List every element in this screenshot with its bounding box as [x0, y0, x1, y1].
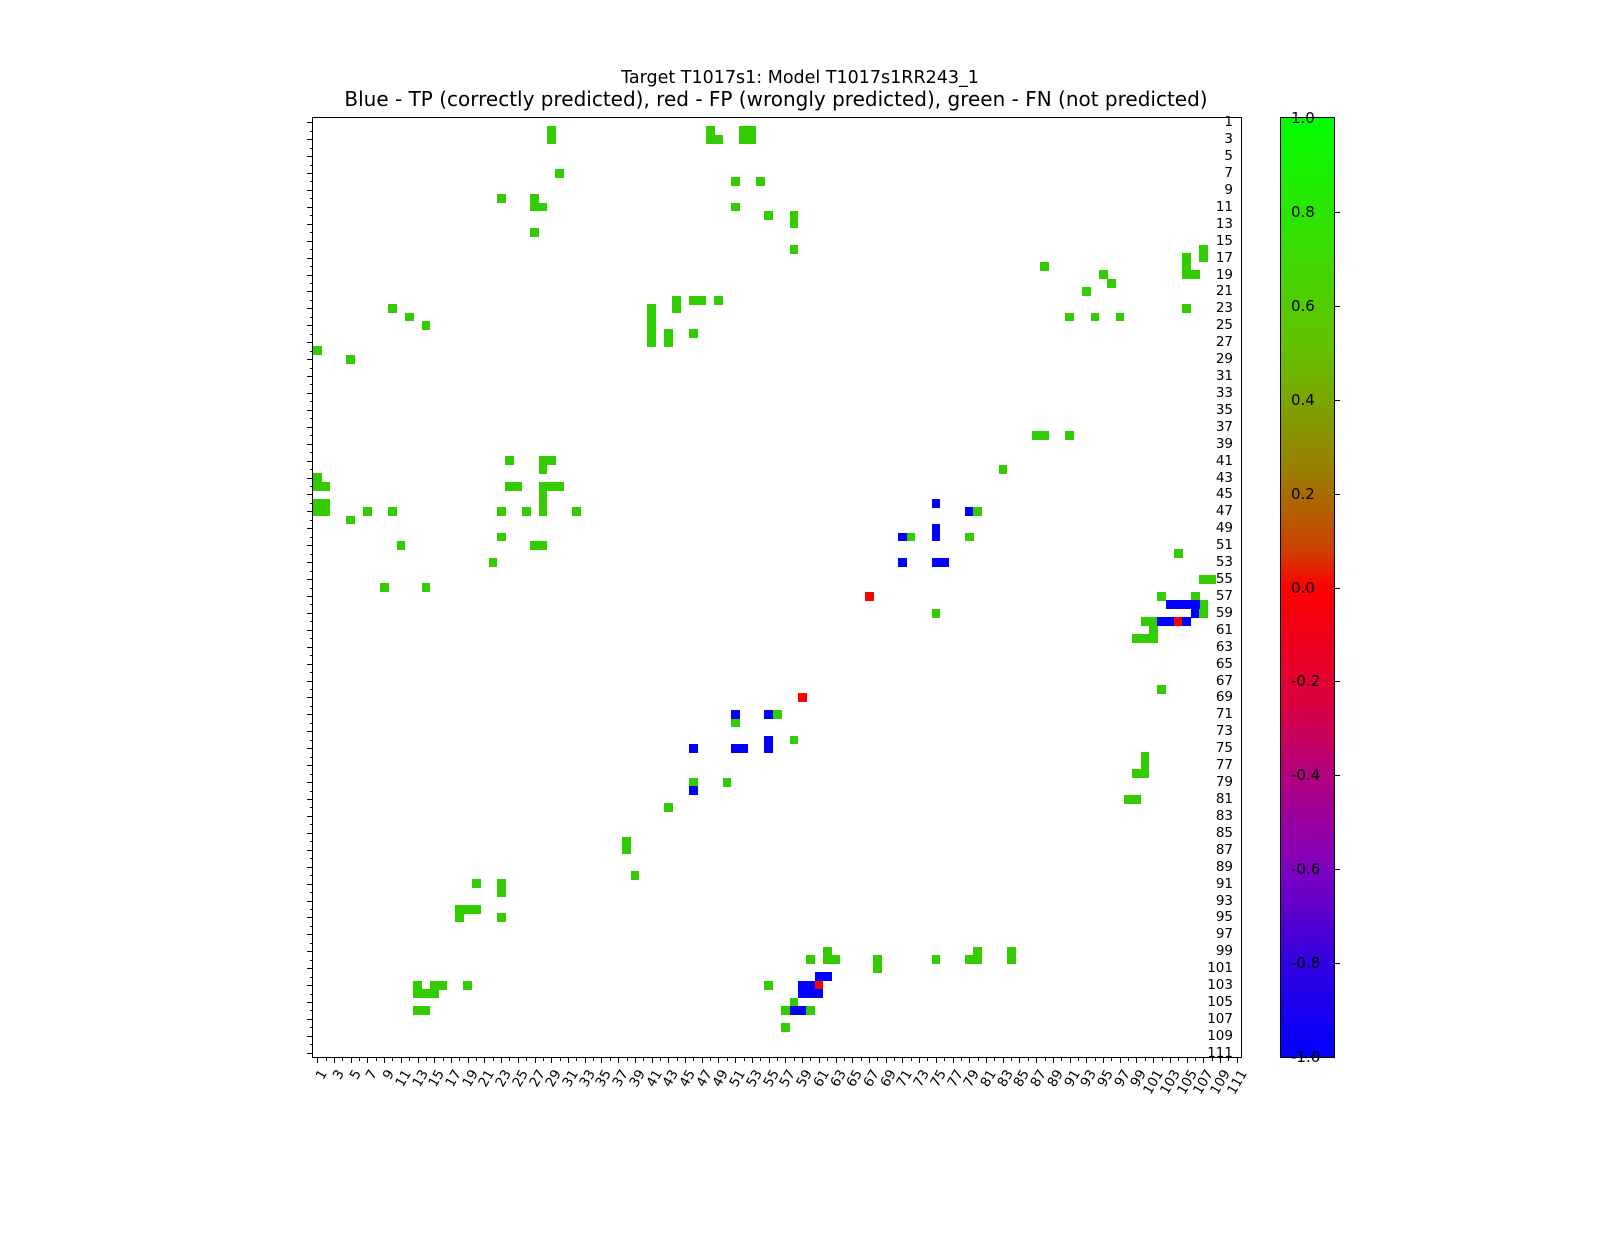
x-tick — [718, 1057, 719, 1063]
x-tick — [601, 1057, 602, 1063]
x-tick — [978, 1057, 979, 1061]
x-tick — [802, 1057, 803, 1063]
colorbar[interactable]: 1.00.80.60.40.20.0-0.2-0.4-0.6-0.8-1.0 — [1280, 117, 1335, 1058]
x-tick — [877, 1057, 878, 1061]
x-tick — [376, 1057, 377, 1061]
x-tick — [1162, 1057, 1163, 1061]
x-tick — [961, 1057, 962, 1061]
colorbar-tick-label: -0.8 — [1291, 954, 1320, 972]
x-tick — [526, 1057, 527, 1061]
x-tick — [1045, 1057, 1046, 1061]
x-tick — [1120, 1057, 1121, 1063]
x-tick — [810, 1057, 811, 1061]
x-tick — [969, 1057, 970, 1063]
x-tick — [994, 1057, 995, 1061]
contact-map-figure: Target T1017s1: Model T1017s1RR243_1 Cor… — [0, 0, 1600, 1200]
x-tick — [451, 1057, 452, 1063]
x-tick — [1111, 1057, 1112, 1061]
x-tick — [326, 1057, 327, 1061]
x-tick — [1036, 1057, 1037, 1063]
colorbar-tick-label: -0.2 — [1291, 672, 1320, 690]
x-tick — [685, 1057, 686, 1063]
x-tick — [1061, 1057, 1062, 1061]
colorbar-tick-label: -0.4 — [1291, 766, 1320, 784]
x-tick — [652, 1057, 653, 1063]
colorbar-tick — [1334, 681, 1340, 682]
axes-title-legend: Blue - TP (correctly predicted), red - F… — [312, 87, 1240, 111]
x-tick — [627, 1057, 628, 1061]
x-tick — [1003, 1057, 1004, 1063]
x-tick — [367, 1057, 368, 1063]
colorbar-tick — [1334, 494, 1340, 495]
x-tick — [852, 1057, 853, 1063]
x-tick — [1070, 1057, 1071, 1063]
colorbar-tick-label: -1.0 — [1291, 1048, 1320, 1066]
x-tick — [426, 1057, 427, 1061]
x-tick — [919, 1057, 920, 1063]
x-tick — [911, 1057, 912, 1061]
x-tick — [1178, 1057, 1179, 1061]
x-tick — [1203, 1057, 1204, 1063]
x-tick — [359, 1057, 360, 1061]
x-tick — [986, 1057, 987, 1063]
colorbar-tick — [1334, 775, 1340, 776]
x-tick — [819, 1057, 820, 1063]
colorbar-tick-label: -0.6 — [1291, 860, 1320, 878]
x-tick — [493, 1057, 494, 1061]
x-tick — [1011, 1057, 1012, 1061]
x-tick — [643, 1057, 644, 1061]
x-tick — [551, 1057, 552, 1063]
x-tick — [668, 1057, 669, 1063]
x-tick — [468, 1057, 469, 1063]
x-tick — [1053, 1057, 1054, 1063]
x-tick — [886, 1057, 887, 1063]
x-tick — [334, 1057, 335, 1063]
x-tick — [936, 1057, 937, 1063]
x-tick — [944, 1057, 945, 1061]
x-tick — [1212, 1057, 1213, 1061]
colorbar-tick — [1334, 963, 1340, 964]
x-tick — [660, 1057, 661, 1061]
x-tick — [401, 1057, 402, 1063]
x-tick — [568, 1057, 569, 1063]
x-tick — [1136, 1057, 1137, 1063]
x-tick — [1128, 1057, 1129, 1061]
x-tick — [418, 1057, 419, 1063]
x-tick — [585, 1057, 586, 1063]
x-tick — [1086, 1057, 1087, 1063]
colorbar-tick-label: 0.8 — [1291, 203, 1315, 221]
x-tick — [543, 1057, 544, 1061]
colorbar-tick-label: 0.0 — [1291, 579, 1315, 597]
x-tick — [777, 1057, 778, 1061]
x-tick — [760, 1057, 761, 1061]
x-tick — [434, 1057, 435, 1063]
colorbar-tick-label: 0.4 — [1291, 391, 1315, 409]
x-tick — [827, 1057, 828, 1061]
x-tick — [409, 1057, 410, 1061]
x-tick — [1103, 1057, 1104, 1063]
x-tick — [902, 1057, 903, 1063]
x-tick — [618, 1057, 619, 1063]
x-tick — [610, 1057, 611, 1061]
x-tick — [535, 1057, 536, 1063]
x-tick — [744, 1057, 745, 1061]
x-tick — [518, 1057, 519, 1063]
x-tick — [1170, 1057, 1171, 1063]
x-tick — [459, 1057, 460, 1061]
x-tick — [576, 1057, 577, 1061]
x-tick — [1195, 1057, 1196, 1061]
x-tick — [702, 1057, 703, 1063]
x-tick — [752, 1057, 753, 1063]
x-tick — [769, 1057, 770, 1063]
x-tick — [953, 1057, 954, 1063]
x-tick — [560, 1057, 561, 1061]
x-tick — [1153, 1057, 1154, 1063]
x-tick — [476, 1057, 477, 1061]
contact-map-plot[interactable]: 1357911131517192123252729313335373941434… — [312, 117, 1242, 1058]
x-tick — [635, 1057, 636, 1063]
x-tick — [342, 1057, 343, 1061]
x-tick — [1220, 1057, 1221, 1063]
x-tick — [484, 1057, 485, 1063]
x-tick — [869, 1057, 870, 1063]
x-tick — [1228, 1057, 1229, 1061]
x-tick — [844, 1057, 845, 1061]
colorbar-tick-label: 0.2 — [1291, 485, 1315, 503]
colorbar-tick — [1334, 869, 1340, 870]
x-tick — [317, 1057, 318, 1063]
x-tick — [593, 1057, 594, 1061]
x-tick — [677, 1057, 678, 1061]
x-tick — [443, 1057, 444, 1061]
x-tick — [392, 1057, 393, 1061]
colorbar-tick — [1334, 400, 1340, 401]
x-tick — [1237, 1057, 1238, 1063]
x-tick — [1028, 1057, 1029, 1061]
x-tick — [727, 1057, 728, 1061]
x-tick — [836, 1057, 837, 1063]
colorbar-tick-label: 0.6 — [1291, 297, 1315, 315]
x-tick — [1078, 1057, 1079, 1061]
x-tick — [384, 1057, 385, 1063]
x-tick — [1145, 1057, 1146, 1061]
x-tick — [351, 1057, 352, 1063]
x-tick — [501, 1057, 502, 1063]
x-tick — [894, 1057, 895, 1061]
x-tick — [927, 1057, 928, 1061]
colorbar-tick-label: 1.0 — [1291, 109, 1315, 127]
x-tick — [794, 1057, 795, 1061]
colorbar-tick — [1334, 588, 1340, 589]
x-tick — [785, 1057, 786, 1063]
x-axis: 1357911131517192123252729313335373941434… — [313, 118, 1241, 1057]
x-tick — [735, 1057, 736, 1063]
x-tick — [509, 1057, 510, 1061]
x-tick — [1095, 1057, 1096, 1061]
x-tick — [710, 1057, 711, 1061]
colorbar-tick — [1334, 306, 1340, 307]
x-tick — [861, 1057, 862, 1061]
x-tick — [1019, 1057, 1020, 1063]
x-tick — [1187, 1057, 1188, 1063]
x-tick — [693, 1057, 694, 1061]
colorbar-tick — [1334, 212, 1340, 213]
